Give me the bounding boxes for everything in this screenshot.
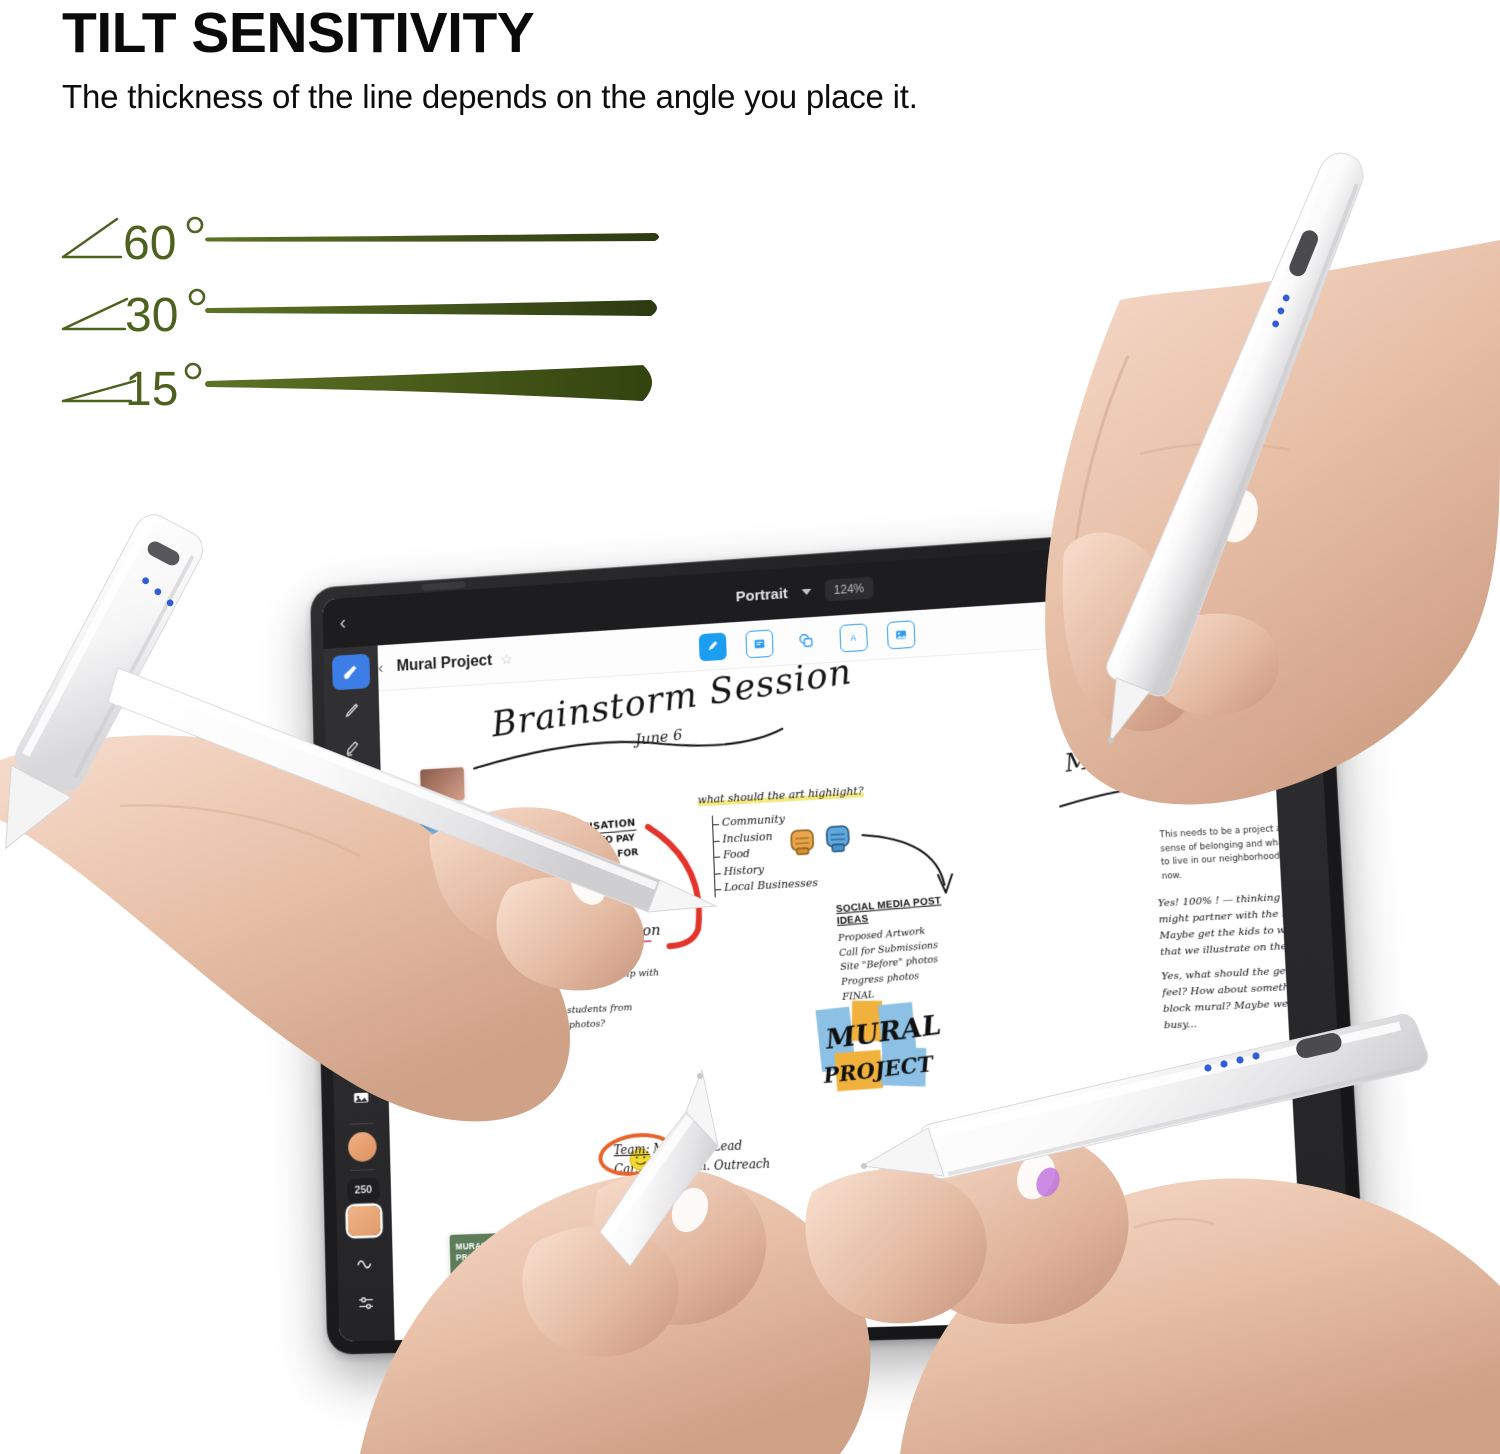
thumb-sticky-note[interactable] xyxy=(481,855,526,896)
marker-tool-icon[interactable] xyxy=(334,730,372,767)
rail-divider xyxy=(349,1123,374,1125)
community-line-2: - photography students from highschool f… xyxy=(499,999,679,1036)
ink-tool-icon[interactable] xyxy=(698,632,726,661)
thumb-photo-3[interactable] xyxy=(421,858,477,898)
move-tool-icon[interactable] xyxy=(336,846,374,883)
social-media-note: SOCIAL MEDIA POST IDEAS Proposed Artwork… xyxy=(836,894,963,1005)
system-bar-actions: ? xyxy=(1051,548,1295,586)
raised-fist-orange-sticker[interactable] xyxy=(787,824,818,862)
led-3 xyxy=(166,598,175,607)
svg-text:T: T xyxy=(355,1012,364,1027)
fill-tool-icon[interactable] xyxy=(338,923,377,960)
selected-color-swatch[interactable] xyxy=(348,1205,381,1236)
brush-size-value[interactable]: 250 xyxy=(347,1178,380,1203)
eraser-tool-icon[interactable] xyxy=(335,769,373,806)
thumb-photo-2[interactable] xyxy=(419,807,475,853)
led-1 xyxy=(1282,294,1291,303)
led-2 xyxy=(153,587,162,596)
team-label: Team: xyxy=(613,1142,649,1157)
community-activation-note: Community Activation - ask local residen… xyxy=(497,920,679,1036)
community-line-1: - get youth volunteers to help with pain… xyxy=(498,965,678,1002)
canvas[interactable]: Brainstorm Session June 6 COMPENSATION L… xyxy=(379,635,1304,1340)
tablet-scene: ‹ Portrait 124% ? xyxy=(0,0,1500,1454)
brush-tool-icon[interactable] xyxy=(332,654,370,691)
undo-icon[interactable] xyxy=(1051,564,1069,587)
color-swatch[interactable] xyxy=(348,1132,377,1163)
pen-tool-icon[interactable] xyxy=(333,692,371,729)
led-1 xyxy=(141,576,150,585)
led-2 xyxy=(1276,306,1285,315)
expand-icon[interactable] xyxy=(1277,548,1296,571)
redo-icon[interactable] xyxy=(1088,561,1106,584)
adjust-sliders-icon[interactable] xyxy=(347,1285,386,1322)
layers-icon[interactable] xyxy=(1278,597,1302,626)
power-button xyxy=(1287,228,1321,279)
account-icon[interactable] xyxy=(1163,556,1181,579)
thumb-photo-6[interactable] xyxy=(430,998,486,1038)
app-back-icon[interactable]: ‹ xyxy=(378,658,384,677)
mural-proposal-card[interactable]: MURAL PROPOSAL xyxy=(450,1232,545,1309)
shape-tool-icon[interactable] xyxy=(336,807,374,844)
shapes-icon[interactable] xyxy=(792,626,821,655)
stamp-tool-icon[interactable] xyxy=(339,962,378,999)
zoom-level-badge[interactable]: 124% xyxy=(825,577,874,602)
lasso-tool-icon[interactable] xyxy=(337,884,375,921)
document-title[interactable]: Mural Project xyxy=(396,652,492,675)
image-icon[interactable] xyxy=(886,620,915,649)
thumb-photo-4[interactable] xyxy=(420,901,478,945)
eyedropper-tool-icon[interactable] xyxy=(341,1040,380,1077)
share-icon[interactable] xyxy=(1201,554,1219,577)
community-line-0: - ask local residents for input xyxy=(498,946,677,969)
sticky-note-icon[interactable] xyxy=(745,629,773,658)
thumb-photo-5[interactable] xyxy=(421,947,481,991)
tablet-device: ‹ Portrait 124% ? xyxy=(310,518,1367,1354)
filters-icon[interactable] xyxy=(1281,650,1305,679)
text-tool-icon[interactable]: T xyxy=(340,1001,379,1038)
star-icon[interactable]: ☆ xyxy=(500,651,512,668)
orientation-label[interactable]: Portrait xyxy=(735,585,788,605)
social-media-list: Proposed Artwork Call for Submissions Si… xyxy=(838,922,963,1005)
comment-icon[interactable] xyxy=(1284,704,1308,733)
image-tool-icon[interactable] xyxy=(342,1079,381,1116)
help-icon[interactable]: ? xyxy=(1126,559,1144,582)
power-button xyxy=(145,539,182,568)
settings-gear-icon[interactable] xyxy=(1239,551,1258,574)
stylus-left xyxy=(0,508,209,865)
rail-divider-2 xyxy=(351,1169,376,1171)
team-note: Team: Michael - Lead Carson - Comm. Outr… xyxy=(613,1133,844,1235)
change-card-title-main: CHANGE xyxy=(563,1278,679,1299)
led-3 xyxy=(1271,319,1280,328)
raised-fist-blue-sticker[interactable] xyxy=(822,820,853,860)
chevron-down-icon[interactable] xyxy=(801,589,811,596)
svg-text:A: A xyxy=(850,633,856,642)
team-member-0: Michael - Lead xyxy=(653,1139,742,1156)
tablet-screen: ‹ Portrait 124% ? xyxy=(322,532,1352,1341)
mural-project-logo: MURAL PROJECT xyxy=(813,995,957,1102)
text-box-icon[interactable]: A xyxy=(839,623,868,652)
wave-tool-icon[interactable] xyxy=(346,1245,385,1282)
change-card[interactable]: Creating Together CHANGE Mural Project P… xyxy=(561,1223,679,1313)
change-card-title-top: Creating Together xyxy=(569,1233,637,1244)
art-highlight-question: what should the art highlight? xyxy=(697,784,863,806)
svg-text:?: ? xyxy=(1132,564,1138,573)
mural-proposal-title: MURAL PROPOSAL xyxy=(450,1232,543,1263)
thumb-photo-1[interactable] xyxy=(420,767,464,802)
